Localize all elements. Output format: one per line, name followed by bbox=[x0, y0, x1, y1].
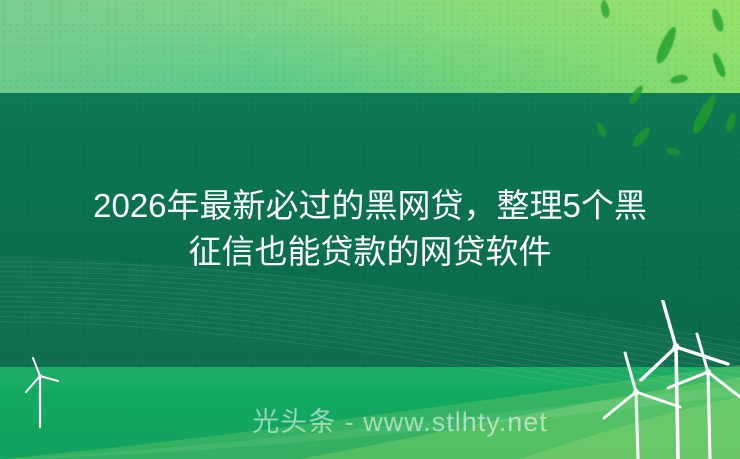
poster-title-line-1: 2026年最新必过的黑网贷，整理5个黑 bbox=[0, 183, 740, 229]
poster-image: 2026年最新必过的黑网贷，整理5个黑 征信也能贷款的网贷软件 光头条 - ww… bbox=[0, 0, 740, 459]
poster-title-line-2: 征信也能贷款的网贷软件 bbox=[0, 229, 740, 275]
background-band-bottom bbox=[0, 367, 740, 459]
poster-title: 2026年最新必过的黑网贷，整理5个黑 征信也能贷款的网贷软件 bbox=[0, 183, 740, 275]
background-band-top-texture bbox=[0, 0, 740, 93]
